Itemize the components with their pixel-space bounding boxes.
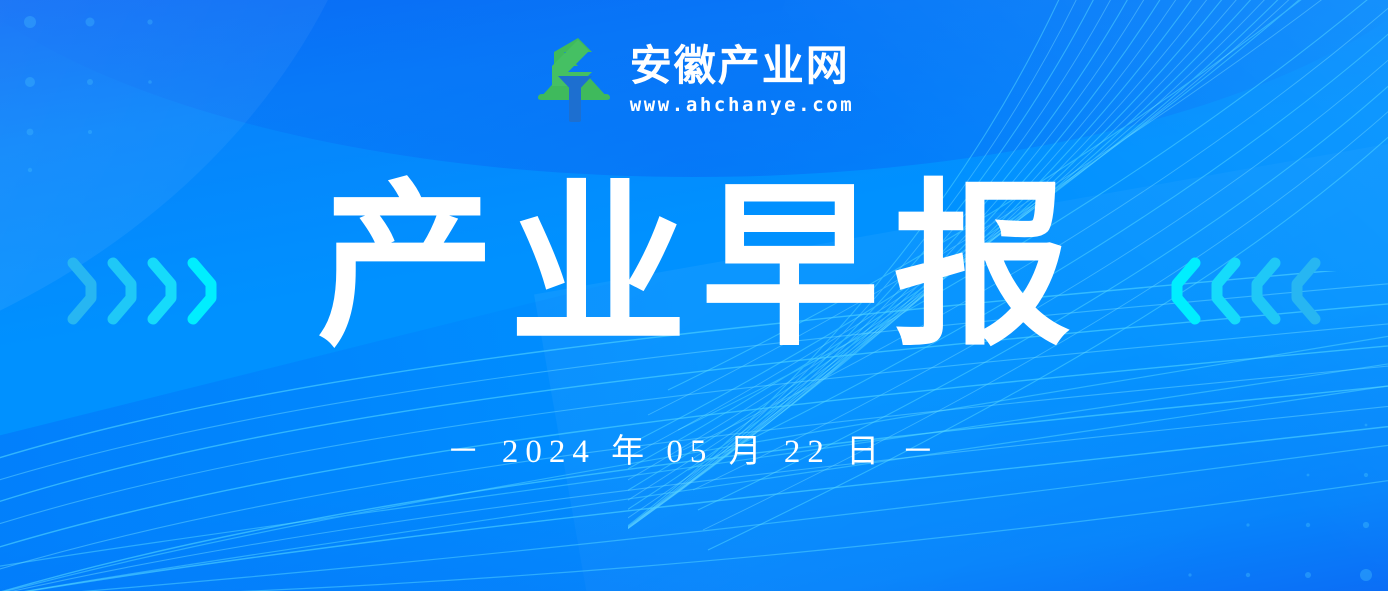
logo-text: 安徽产业网 www.ahchanye.com <box>630 44 855 116</box>
publish-date: － 2024 年 05 月 22 日 － <box>447 424 942 472</box>
date-row: － 2024 年 05 月 22 日 － <box>0 424 1388 472</box>
site-logo[interactable]: 安徽产业网 www.ahchanye.com <box>0 36 1388 124</box>
tree-logo-icon <box>534 36 614 124</box>
page-title: 产业早报 <box>303 178 1085 356</box>
site-url: www.ahchanye.com <box>630 94 855 116</box>
site-name: 安徽产业网 <box>630 44 855 88</box>
banner-content: 安徽产业网 www.ahchanye.com <box>0 0 1388 591</box>
industry-morning-report-banner: 安徽产业网 www.ahchanye.com <box>0 0 1388 591</box>
headline-row: 产业早报 <box>0 178 1388 356</box>
